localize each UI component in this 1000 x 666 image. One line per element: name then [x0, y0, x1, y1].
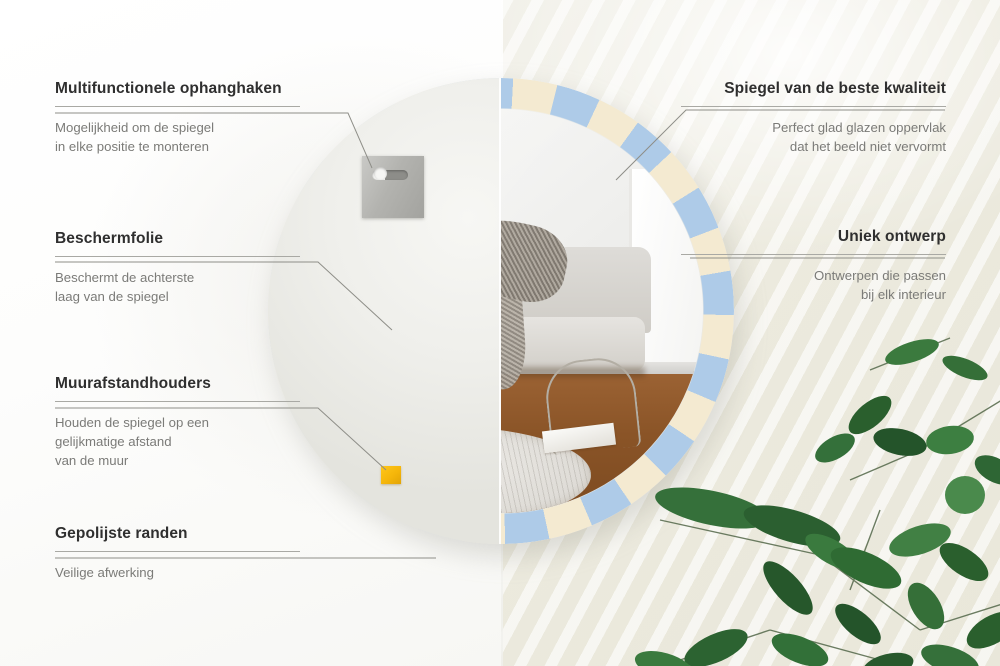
callout-heading: Spiegel van de beste kwaliteit [681, 80, 946, 98]
callout-uniek-ontwerp: Uniek ontwerp Ontwerpen die passenbij el… [681, 228, 946, 304]
callout-rule [55, 256, 300, 257]
callout-rule [681, 254, 946, 255]
eucalyptus-foliage [620, 330, 1000, 666]
callout-body: Mogelijkheid om de spiegelin elke positi… [55, 118, 300, 156]
callout-gepolijste-randen: Gepolijste randen Veilige afwerking [55, 525, 300, 582]
callout-body: Ontwerpen die passenbij elk interieur [681, 266, 946, 304]
infographic-canvas: Multifunctionele ophanghaken Mogelijkhei… [0, 0, 1000, 666]
callout-ophanghaken: Multifunctionele ophanghaken Mogelijkhei… [55, 80, 300, 156]
callout-rule [681, 106, 946, 107]
callout-rule [55, 551, 300, 552]
callout-heading: Uniek ontwerp [681, 228, 946, 246]
callout-body: Perfect glad glazen oppervlakdat het bee… [681, 118, 946, 156]
callout-beschermfolie: Beschermfolie Beschermt de achterstelaag… [55, 230, 300, 306]
callout-muurafstandhouders: Muurafstandhouders Houden de spiegel op … [55, 375, 300, 470]
callout-beste-kwaliteit: Spiegel van de beste kwaliteit Perfect g… [681, 80, 946, 156]
callout-rule [55, 401, 300, 402]
leaf-cluster [632, 334, 1000, 666]
callout-heading: Muurafstandhouders [55, 375, 300, 393]
callout-rule [55, 106, 300, 107]
callout-heading: Gepolijste randen [55, 525, 300, 543]
callout-body: Houden de spiegel op eengelijkmatige afs… [55, 413, 300, 470]
callout-heading: Multifunctionele ophanghaken [55, 80, 300, 98]
callout-heading: Beschermfolie [55, 230, 300, 248]
callout-body: Beschermt de achterstelaag van de spiege… [55, 268, 300, 306]
callout-body: Veilige afwerking [55, 563, 300, 582]
